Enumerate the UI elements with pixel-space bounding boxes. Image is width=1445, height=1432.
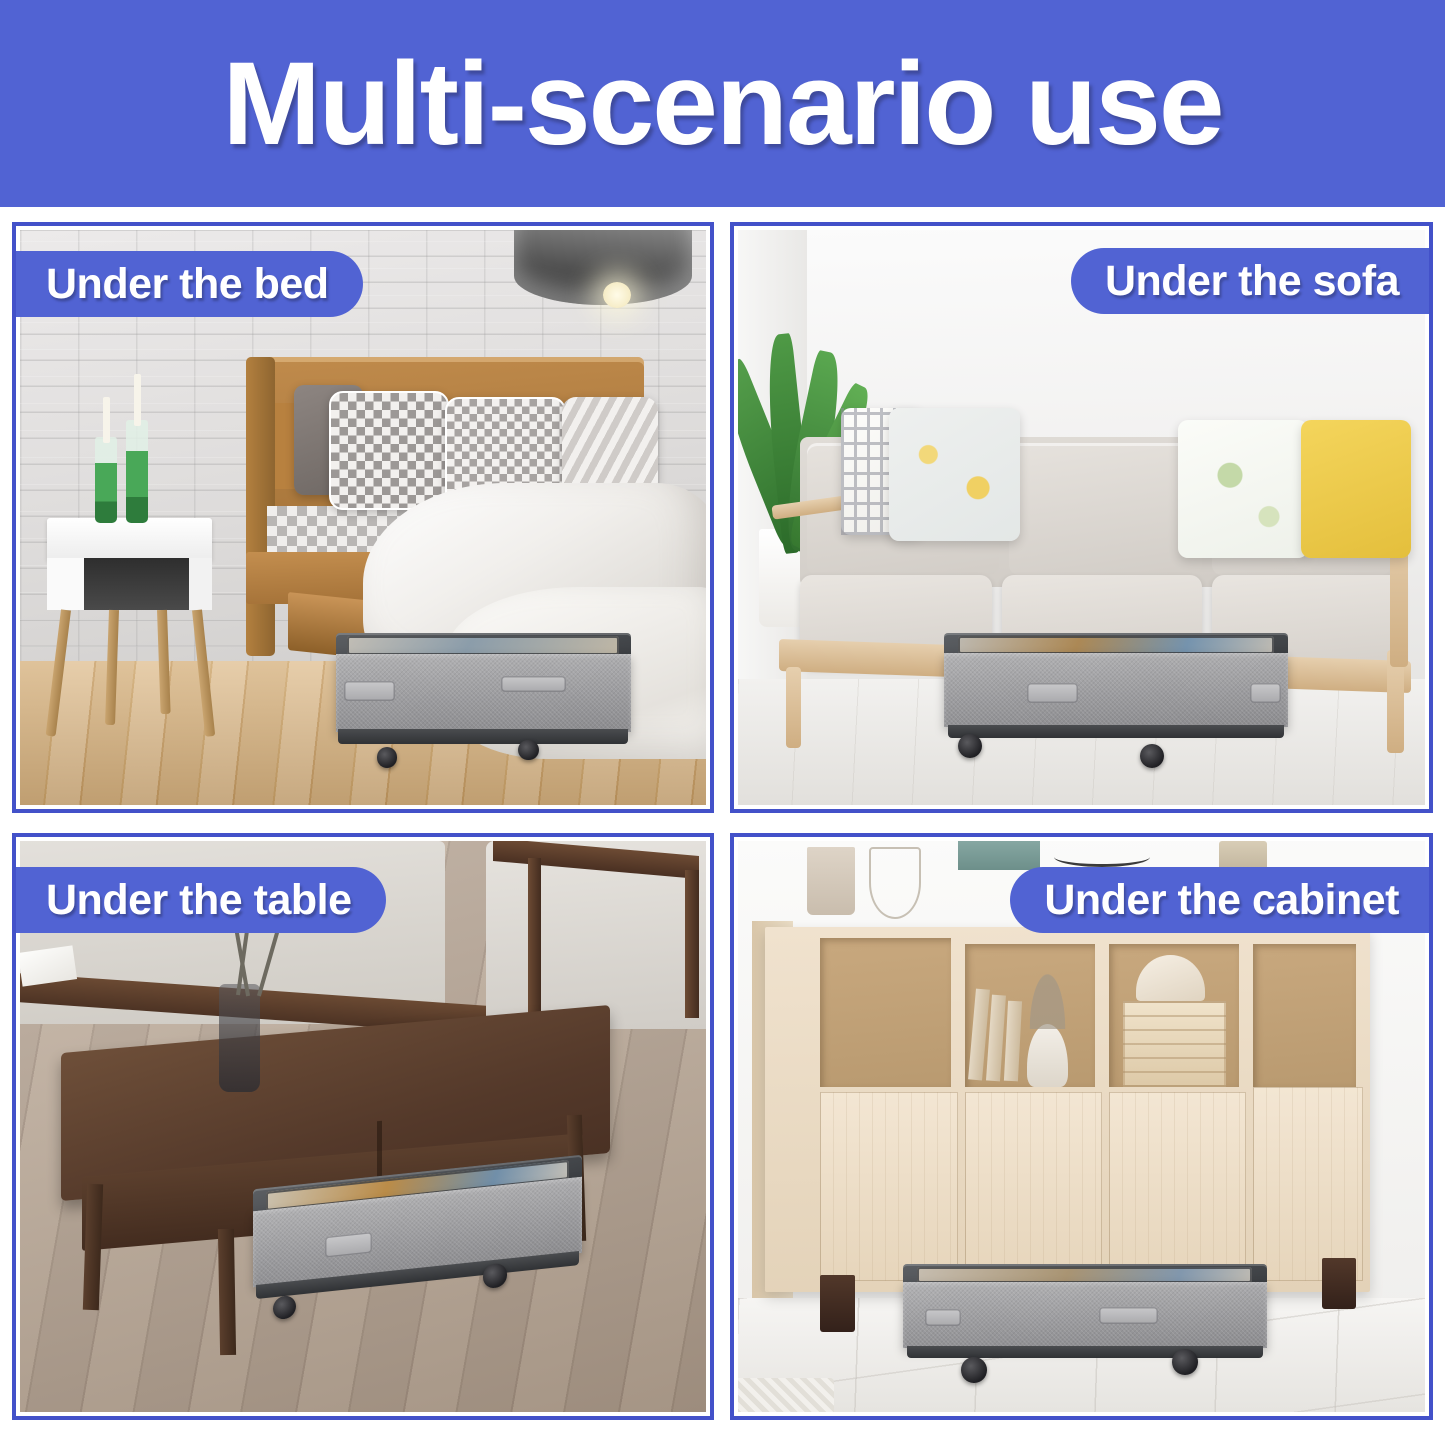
wall-art [958, 841, 1040, 870]
area-rug [738, 1378, 834, 1412]
storage-box-handle [1250, 683, 1281, 703]
green-bottle [126, 420, 148, 524]
label-under-the-bed: Under the bed [12, 251, 363, 317]
storage-box [903, 1264, 1267, 1367]
label-under-the-sofa: Under the sofa [1071, 248, 1433, 314]
ruffled-pillow [562, 397, 658, 495]
storage-box-caster [1140, 744, 1164, 768]
cabinet-open-cube [820, 938, 951, 1086]
glass-vase [219, 984, 260, 1092]
storage-box [944, 633, 1288, 748]
panel-under-the-table: Under the table [12, 833, 714, 1420]
wooden-crate [1123, 1001, 1226, 1087]
candle [103, 397, 110, 443]
sofa-back-cushion [1009, 443, 1201, 575]
cabinet-door [1253, 1087, 1363, 1281]
yellow-pillow [1301, 420, 1411, 558]
storage-box-caster [377, 747, 398, 768]
nightstand-body [47, 558, 212, 610]
label-under-the-table: Under the table [12, 867, 386, 933]
green-bottle [95, 437, 117, 523]
storage-box-handle [925, 1309, 961, 1326]
green-floral-pillow [1178, 420, 1309, 558]
label-text: Under the cabinet [1044, 876, 1399, 925]
nightstand-top [47, 518, 212, 561]
cabinet-door [965, 1092, 1102, 1280]
lamp-bulb [603, 282, 631, 308]
sofa-scene [738, 230, 1425, 805]
header-banner: Multi-scenario use [0, 0, 1445, 207]
plant-pot [807, 847, 855, 916]
dried-pampas [1020, 944, 1075, 1030]
label-text: Under the table [46, 876, 352, 925]
storage-box-window [917, 1267, 1252, 1283]
storage-box-handle [1099, 1307, 1157, 1324]
storage-box-window [347, 636, 618, 655]
label-text: Under the sofa [1105, 257, 1399, 306]
label-text: Under the bed [46, 260, 329, 309]
storage-box-handle [1027, 683, 1079, 703]
cabinet-door [1109, 1092, 1246, 1280]
panel-under-the-cabinet: Under the cabinet [730, 833, 1433, 1420]
armchair-leg [685, 870, 699, 1018]
cabinet-foot [1322, 1258, 1356, 1309]
yellow-floral-pillow [889, 408, 1020, 540]
storage-box-caster [1172, 1349, 1197, 1374]
storage-box-base [948, 725, 1285, 739]
storage-box [336, 633, 631, 754]
storage-box-caster [961, 1357, 986, 1382]
storage-box-body [944, 653, 1288, 727]
candle [134, 374, 141, 426]
storage-box-handle [501, 676, 566, 692]
cabinet-open-cube [1253, 944, 1356, 1087]
cabinet-door [820, 1092, 957, 1280]
sofa-leg [786, 667, 801, 748]
page-title: Multi-scenario use [0, 0, 1445, 207]
storage-box-base [338, 729, 627, 743]
checkered-pillow [329, 391, 450, 510]
storage-box-handle [344, 681, 394, 702]
wire-decor [869, 847, 921, 920]
storage-box-window [958, 636, 1274, 654]
storage-box-base [907, 1346, 1264, 1358]
armchair-leg [528, 858, 542, 1018]
cabinet-foot [820, 1275, 854, 1332]
storage-box-caster [958, 734, 982, 758]
infographic-page: Multi-scenario use [0, 0, 1445, 1432]
panel-under-the-sofa: Under the sofa [730, 222, 1433, 813]
hanging-cord [1054, 847, 1150, 867]
label-under-the-cabinet: Under the cabinet [1010, 867, 1433, 933]
panel-under-the-bed: Under the bed [12, 222, 714, 813]
coffee-table-leg [218, 1229, 236, 1355]
